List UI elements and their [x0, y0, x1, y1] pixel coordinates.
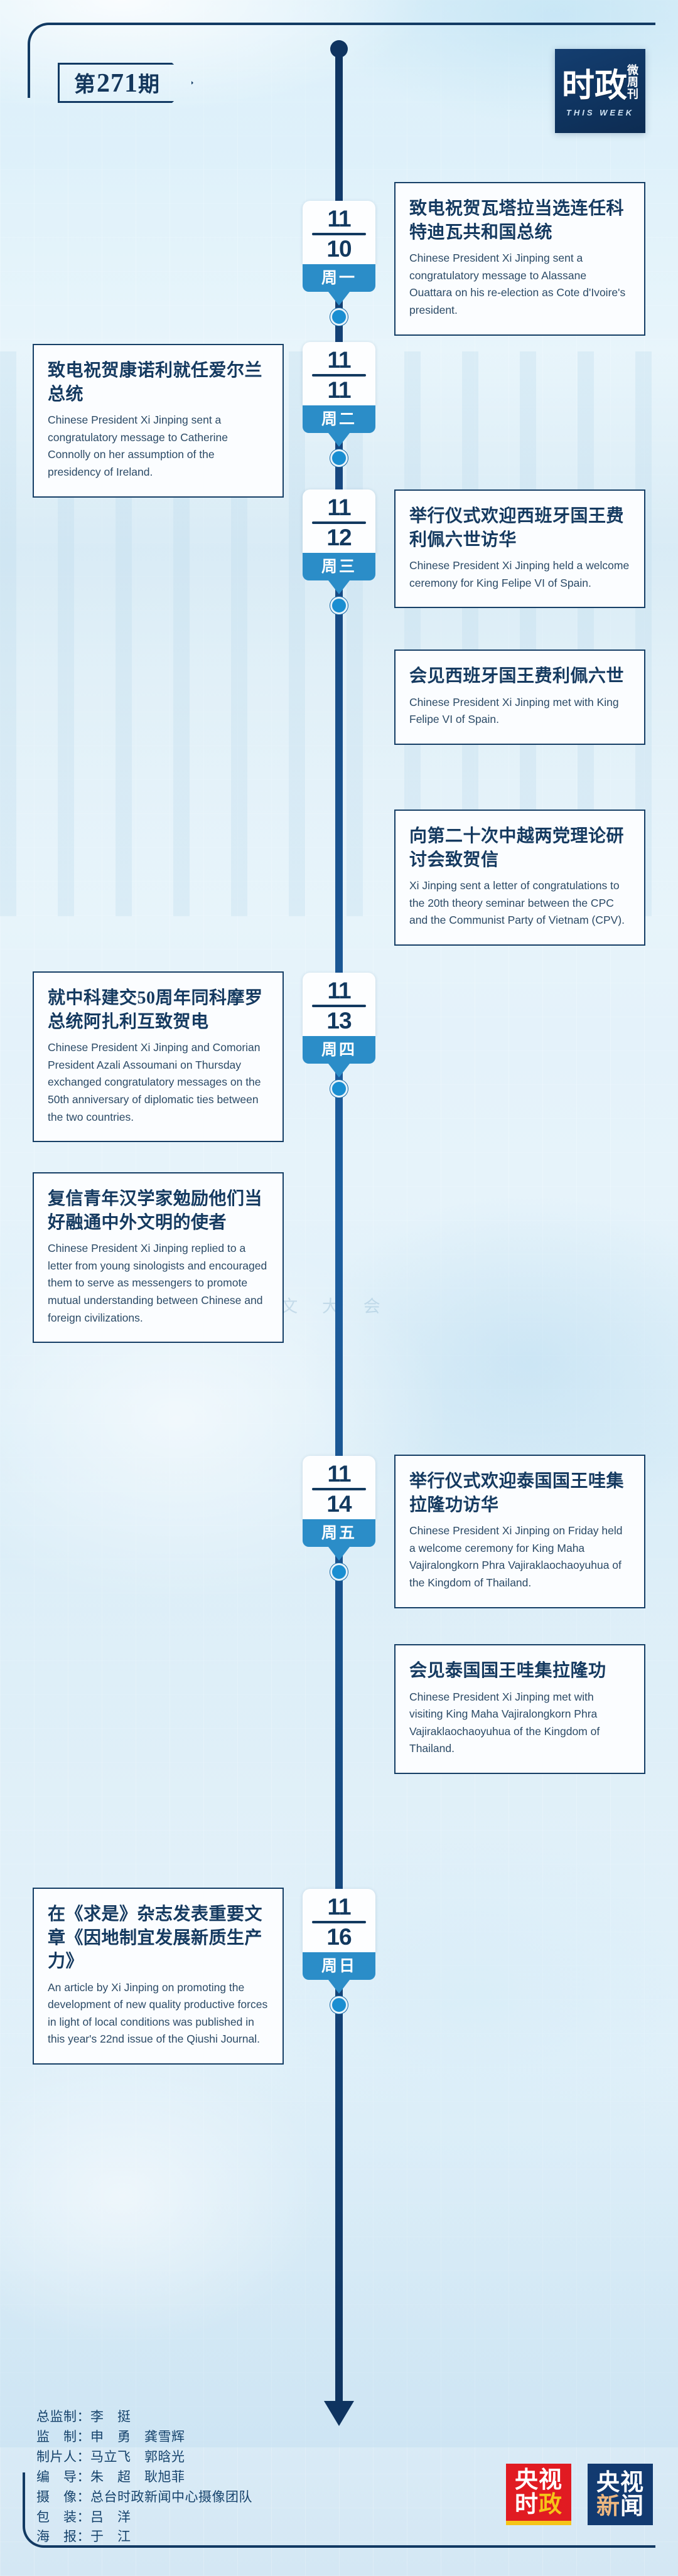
event-card[interactable]: 在《求是》杂志发表重要文章《因地制宜发展新质生产力》An article by … — [33, 1888, 284, 2065]
date-pointer-icon — [328, 433, 350, 447]
date-box: 1114 — [303, 1456, 375, 1519]
date-divider — [312, 1488, 366, 1490]
footer-logo-char: 新 — [596, 2494, 620, 2518]
footer-logo-char: 央 — [515, 2468, 539, 2492]
event-card-description: Chinese President Xi Jinping on Friday h… — [409, 1522, 630, 1592]
date-day: 16 — [303, 1925, 375, 1949]
date-month: 11 — [303, 1895, 375, 1919]
footer-logo-char: 时 — [515, 2493, 539, 2516]
timeline-node-dot — [330, 1563, 348, 1581]
date-marker: 1116周日 — [293, 1889, 385, 2014]
issue-prefix: 第 — [74, 73, 97, 97]
event-card-title: 向第二十次中越两党理论研讨会致贺信 — [409, 825, 630, 872]
brand-logo: 时 政 微 周 刊 THIS WEEK — [555, 49, 645, 133]
footer-logo-char: 闻 — [620, 2494, 644, 2518]
event-card-description: Chinese President Xi Jinping held a welc… — [409, 557, 630, 592]
event-card-description: Xi Jinping sent a letter of congratulati… — [409, 877, 630, 929]
date-day: 11 — [303, 378, 375, 402]
credit-line: 海 报：于 江 — [36, 2527, 252, 2547]
event-card-title: 致电祝贺康诺利就任爱尔兰总统 — [48, 359, 269, 406]
event-card-title: 举行仪式欢迎泰国国王哇集拉隆功访华 — [409, 1470, 630, 1517]
date-box: 1113 — [303, 973, 375, 1036]
date-divider — [312, 1921, 366, 1923]
footer-logo-line1: 央视 — [515, 2468, 562, 2492]
logo-cctv-zhengzhi[interactable]: 央视时政 — [506, 2464, 571, 2525]
brand-char-shi: 时 — [562, 72, 593, 102]
date-day: 13 — [303, 1009, 375, 1033]
date-pointer-icon — [328, 1064, 350, 1077]
brand-char-zhou: 周 — [627, 77, 638, 88]
date-month: 11 — [303, 1462, 375, 1486]
date-marker: 1114周五 — [293, 1456, 385, 1581]
footer-logo-line1: 央视 — [596, 2471, 644, 2494]
credit-line: 制片人：马立飞 郭晗光 — [36, 2447, 252, 2467]
event-card-description: Chinese President Xi Jinping and Comoria… — [48, 1039, 269, 1126]
timeline-end-arrow-icon — [324, 2401, 354, 2426]
date-month: 11 — [303, 496, 375, 520]
date-marker: 1112周三 — [293, 489, 385, 614]
date-divider — [312, 233, 366, 235]
footer-logos: 央视时政央视新闻 — [506, 2464, 653, 2525]
date-divider — [312, 374, 366, 377]
footer-logo-line2: 时政 — [515, 2493, 562, 2516]
date-box: 1112 — [303, 489, 375, 553]
date-month: 11 — [303, 979, 375, 1003]
footer-logo-char: 视 — [539, 2468, 562, 2492]
brand-char-wei: 微 — [627, 65, 638, 77]
footer-logo-char: 央 — [596, 2471, 620, 2494]
credit-line: 包 装：吕 洋 — [36, 2508, 252, 2528]
date-divider — [312, 1005, 366, 1007]
issue-number: 271 — [97, 69, 138, 98]
date-box: 1111 — [303, 342, 375, 405]
event-card-description: Chinese President Xi Jinping replied to … — [48, 1240, 269, 1327]
event-card-title: 举行仪式欢迎西班牙国王费利佩六世访华 — [409, 505, 630, 552]
date-day: 12 — [303, 526, 375, 550]
brand-subtitle-vertical: 微 周 刊 — [627, 65, 638, 102]
poster-root: 世 界 中 文 大 会 第271期 时 政 微 周 刊 THIS WEEK 11… — [0, 0, 678, 2576]
event-card-description: An article by Xi Jinping on promoting th… — [48, 1979, 269, 2049]
credit-line: 监 制：申 勇 龚雪辉 — [36, 2427, 252, 2447]
date-weekday: 周四 — [303, 1036, 375, 1064]
event-card[interactable]: 复信青年汉学家勉励他们当好融通中外文明的使者Chinese President … — [33, 1172, 284, 1343]
event-card[interactable]: 会见西班牙国王费利佩六世Chinese President Xi Jinping… — [394, 649, 645, 745]
event-card-description: Chinese President Xi Jinping sent a cong… — [48, 412, 269, 481]
credits-block: 总监制：李 挺监 制：申 勇 龚雪辉制片人：马立飞 郭晗光编 导：朱 超 耿旭菲… — [36, 2407, 252, 2547]
date-weekday: 周五 — [303, 1519, 375, 1547]
date-pointer-icon — [328, 292, 350, 306]
date-marker: 1111周二 — [293, 342, 385, 467]
date-weekday: 周三 — [303, 553, 375, 580]
date-pointer-icon — [328, 580, 350, 594]
date-month: 11 — [303, 207, 375, 231]
date-marker: 1110周一 — [293, 201, 385, 326]
date-box: 1116 — [303, 1889, 375, 1952]
brand-logo-chinese: 时 政 微 周 刊 — [562, 65, 638, 102]
logo-cctv-news[interactable]: 央视新闻 — [588, 2464, 653, 2525]
date-day: 14 — [303, 1492, 375, 1516]
timeline-node-dot — [330, 308, 348, 326]
date-day: 10 — [303, 237, 375, 261]
event-card[interactable]: 就中科建交50周年同科摩罗总统阿扎利互致贺电Chinese President … — [33, 971, 284, 1142]
timeline-node-dot — [330, 597, 348, 614]
event-card[interactable]: 致电祝贺康诺利就任爱尔兰总统Chinese President Xi Jinpi… — [33, 344, 284, 498]
event-card[interactable]: 致电祝贺瓦塔拉当选连任科特迪瓦共和国总统Chinese President Xi… — [394, 182, 645, 336]
event-card-title: 会见泰国国王哇集拉隆功 — [409, 1659, 630, 1683]
event-card[interactable]: 举行仪式欢迎泰国国王哇集拉隆功访华Chinese President Xi Ji… — [394, 1455, 645, 1608]
timeline-node-dot — [330, 449, 348, 467]
brand-char-zheng: 政 — [595, 72, 626, 102]
brand-logo-english: THIS WEEK — [566, 108, 634, 117]
timeline-node-dot — [330, 1996, 348, 2014]
brand-char-kan: 刊 — [627, 88, 638, 100]
date-pointer-icon — [328, 1980, 350, 1994]
event-card[interactable]: 举行仪式欢迎西班牙国王费利佩六世访华Chinese President Xi J… — [394, 489, 645, 608]
event-card-title: 会见西班牙国王费利佩六世 — [409, 665, 630, 688]
date-box: 1110 — [303, 201, 375, 264]
issue-badge-label: 第271期 — [74, 67, 161, 99]
event-card-title: 就中科建交50周年同科摩罗总统阿扎利互致贺电 — [48, 986, 269, 1034]
credit-line: 总监制：李 挺 — [36, 2407, 252, 2427]
date-month: 11 — [303, 348, 375, 372]
date-weekday: 周一 — [303, 264, 375, 292]
date-pointer-icon — [328, 1547, 350, 1561]
event-card-title: 复信青年汉学家勉励他们当好融通中外文明的使者 — [48, 1187, 269, 1234]
issue-badge: 第271期 — [58, 63, 193, 103]
event-card[interactable]: 会见泰国国王哇集拉隆功Chinese President Xi Jinping … — [394, 1644, 645, 1774]
event-card-description: Chinese President Xi Jinping sent a cong… — [409, 250, 630, 319]
issue-suffix: 期 — [138, 73, 161, 97]
event-card[interactable]: 向第二十次中越两党理论研讨会致贺信Xi Jinping sent a lette… — [394, 810, 645, 946]
footer-logo-char: 视 — [620, 2471, 644, 2494]
event-card-title: 在《求是》杂志发表重要文章《因地制宜发展新质生产力》 — [48, 1903, 269, 1974]
event-card-description: Chinese President Xi Jinping met with vi… — [409, 1689, 630, 1758]
date-weekday: 周二 — [303, 405, 375, 433]
footer-logo-line2: 新闻 — [596, 2494, 644, 2518]
timeline-node-dot — [330, 1080, 348, 1098]
credit-line: 摄 像：总台时政新闻中心摄像团队 — [36, 2488, 252, 2508]
event-card-title: 致电祝贺瓦塔拉当选连任科特迪瓦共和国总统 — [409, 197, 630, 244]
date-weekday: 周日 — [303, 1952, 375, 1980]
date-marker: 1113周四 — [293, 973, 385, 1098]
date-divider — [312, 521, 366, 524]
footer-logo-char: 政 — [539, 2493, 562, 2516]
event-card-description: Chinese President Xi Jinping met with Ki… — [409, 694, 630, 729]
credit-line: 编 导：朱 超 耿旭菲 — [36, 2467, 252, 2488]
